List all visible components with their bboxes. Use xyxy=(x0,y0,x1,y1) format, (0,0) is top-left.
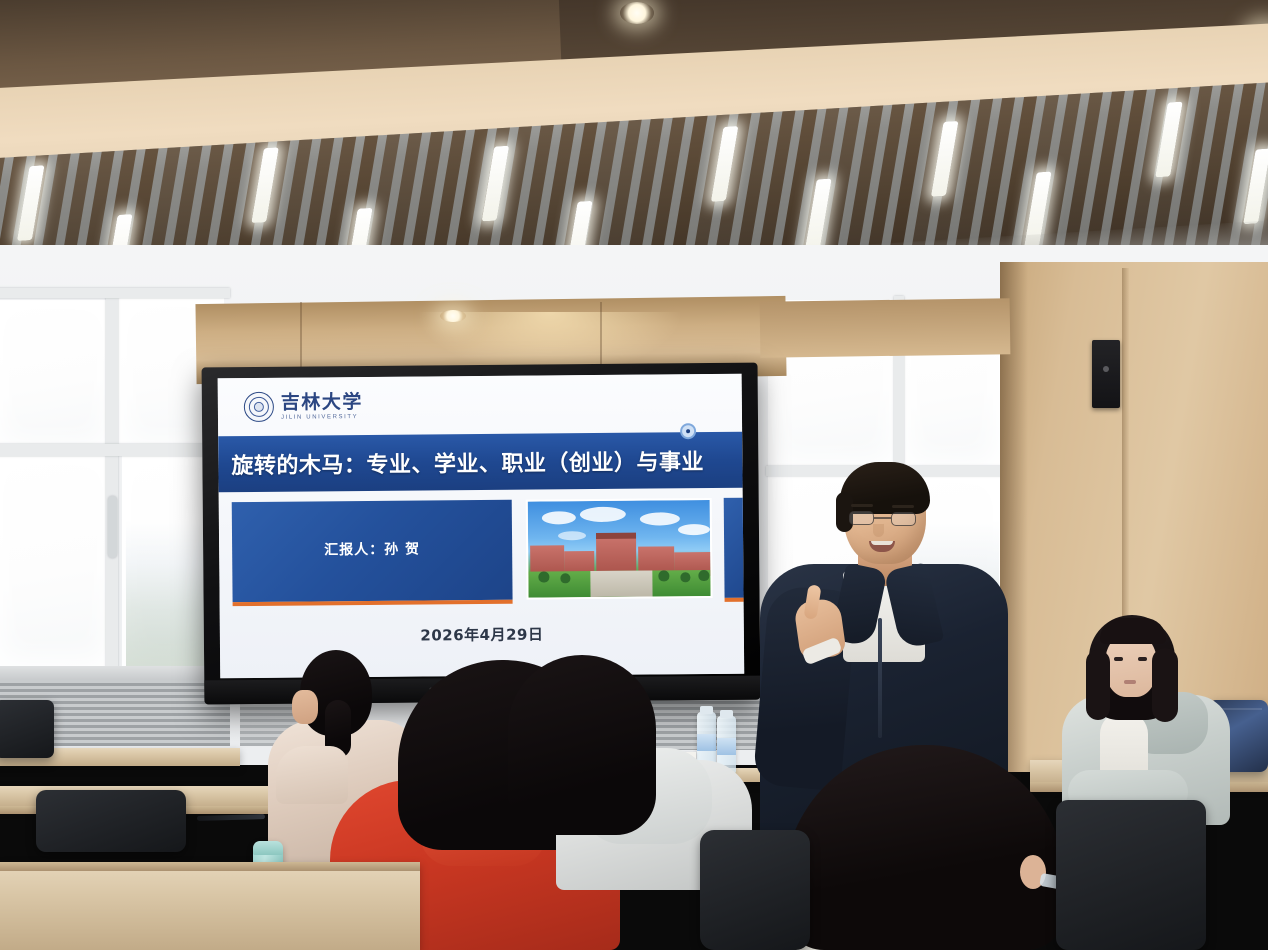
wall-downlight xyxy=(440,310,466,322)
window-handle[interactable] xyxy=(108,496,117,558)
window-pane-3 xyxy=(0,456,112,666)
slide-title-band: 旋转的木马：专业、学业、职业（创业）与事业 xyxy=(218,432,742,493)
presenter-zipper xyxy=(878,618,882,738)
student-right-eye-right xyxy=(1138,657,1147,661)
presenter-name: 汇报人：孙 贺 xyxy=(232,538,512,560)
decorative-circle-icon xyxy=(680,423,696,439)
slide-header: 吉林大学 JILIN UNIVERSITY xyxy=(218,374,742,437)
table-foreground-left-edge xyxy=(0,862,420,871)
window-mullion-h1 xyxy=(0,444,226,456)
university-logo: 吉林大学 JILIN UNIVERSITY xyxy=(244,391,363,422)
classroom-scene: {"n":62} xyxy=(0,0,1268,950)
university-name-en: JILIN UNIVERSITY xyxy=(281,414,363,421)
table-foreground-left xyxy=(0,862,420,950)
side-panel-right-accent xyxy=(725,598,745,602)
campus-photo xyxy=(526,498,713,600)
student-right-hair-right xyxy=(1152,648,1178,722)
speaker-driver-icon xyxy=(1103,366,1109,372)
slide-body: 汇报人：孙 贺 xyxy=(219,498,744,613)
presenter-teeth xyxy=(871,541,893,545)
student-right-bangs xyxy=(1100,618,1166,644)
display-panel[interactable]: 吉林大学 JILIN UNIVERSITY 旋转的木马：专业、学业、职业（创业）… xyxy=(202,363,761,705)
student-right-eye-left xyxy=(1114,657,1123,661)
pen[interactable] xyxy=(197,814,265,821)
student-beige-hood xyxy=(276,746,348,804)
student-right-mouth xyxy=(1124,680,1136,684)
presenter-nose xyxy=(873,524,884,537)
student-beige-face xyxy=(292,690,318,724)
chair-mid-left[interactable] xyxy=(36,790,186,852)
glasses-lens-right-icon xyxy=(891,512,916,526)
student-right-hair-left xyxy=(1086,650,1110,720)
glasses-lens-left-icon xyxy=(849,511,874,525)
student-white-hair xyxy=(508,655,656,835)
display-screen[interactable]: 吉林大学 JILIN UNIVERSITY 旋转的木马：专业、学业、职业（创业）… xyxy=(218,374,745,679)
wood-panel-right-of-screen xyxy=(760,298,1011,357)
wall-speaker-icon xyxy=(1092,340,1120,408)
window-head xyxy=(0,288,230,298)
ceiling-downlight-1 xyxy=(620,2,654,24)
university-seal-icon xyxy=(244,392,274,422)
chair-foreground-mid[interactable] xyxy=(700,830,810,950)
presentation-slide: 吉林大学 JILIN UNIVERSITY 旋转的木马：专业、学业、职业（创业）… xyxy=(218,374,745,679)
window-pane-1 xyxy=(0,300,112,450)
presenter-eyebrow-left xyxy=(851,504,873,507)
slide-date: 2026年4月29日 xyxy=(220,622,744,648)
presenter-panel: 汇报人：孙 贺 xyxy=(232,500,513,602)
slide-title: 旋转的木马：专业、学业、职业（创业）与事业 xyxy=(218,444,704,480)
chair-back-left[interactable] xyxy=(0,700,54,758)
side-panel-right xyxy=(724,498,745,598)
university-name-cn: 吉林大学 xyxy=(281,393,363,413)
glasses-bridge-icon xyxy=(874,517,891,519)
chair-foreground-right[interactable] xyxy=(1056,800,1206,950)
thermos-cap xyxy=(253,841,283,855)
presenter-eyebrow-right xyxy=(892,505,914,508)
window-mullion-v1 xyxy=(106,292,118,672)
